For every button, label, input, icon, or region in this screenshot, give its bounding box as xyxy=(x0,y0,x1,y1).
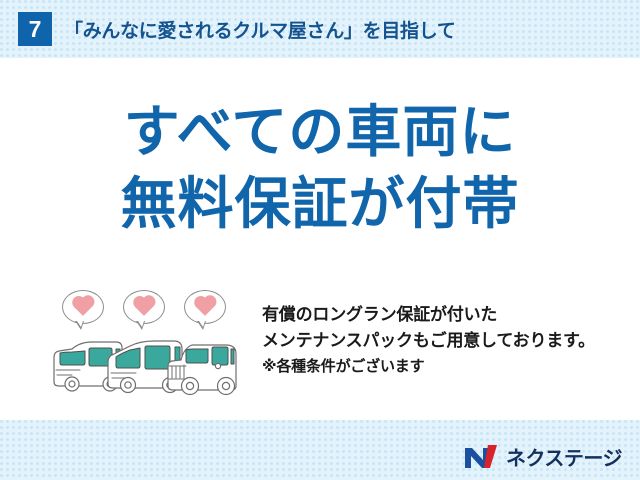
body-copy: 有償のロングラン保証が付いた メンテナンスパックもご用意しております。 ※各種条… xyxy=(262,302,632,378)
heart-icon xyxy=(74,298,92,316)
headline: すべての車両に 無料保証が付帯 xyxy=(0,96,640,239)
body-section: 有償のロングラン保証が付いた メンテナンスパックもご用意しております。 ※各種条… xyxy=(0,288,640,408)
body-copy-line-1: 有償のロングラン保証が付いた xyxy=(262,302,632,328)
bubble-tail xyxy=(197,321,206,330)
header: 7 「みんなに愛されるクルマ屋さん」を目指して xyxy=(0,0,640,58)
header-title: 「みんなに愛されるクルマ屋さん」を目指して xyxy=(64,16,456,43)
heart-icon xyxy=(196,298,214,316)
brand-logo: ネクステージ xyxy=(464,441,622,471)
speech-bubble-3 xyxy=(184,290,226,324)
speech-bubble-2 xyxy=(123,290,165,324)
cars-illustration xyxy=(50,330,250,398)
brand-name: ネクステージ xyxy=(506,442,622,471)
body-copy-note: ※各種条件がございます xyxy=(262,355,632,378)
bubble-tail xyxy=(75,321,84,330)
section-number-badge: 7 xyxy=(18,12,52,46)
body-copy-line-2: メンテナンスパックもご用意しております。 xyxy=(262,328,632,354)
car-illustration-group xyxy=(50,288,250,398)
bubble-tail xyxy=(136,321,145,330)
headline-line-1: すべての車両に xyxy=(0,96,640,168)
promo-banner: 7 「みんなに愛されるクルマ屋さん」を目指して すべての車両に 無料保証が付帯 xyxy=(0,0,640,480)
headline-line-2: 無料保証が付帯 xyxy=(0,168,640,240)
speech-bubble-1 xyxy=(62,290,104,324)
nextage-n-icon xyxy=(464,444,498,469)
heart-icon xyxy=(135,298,153,316)
